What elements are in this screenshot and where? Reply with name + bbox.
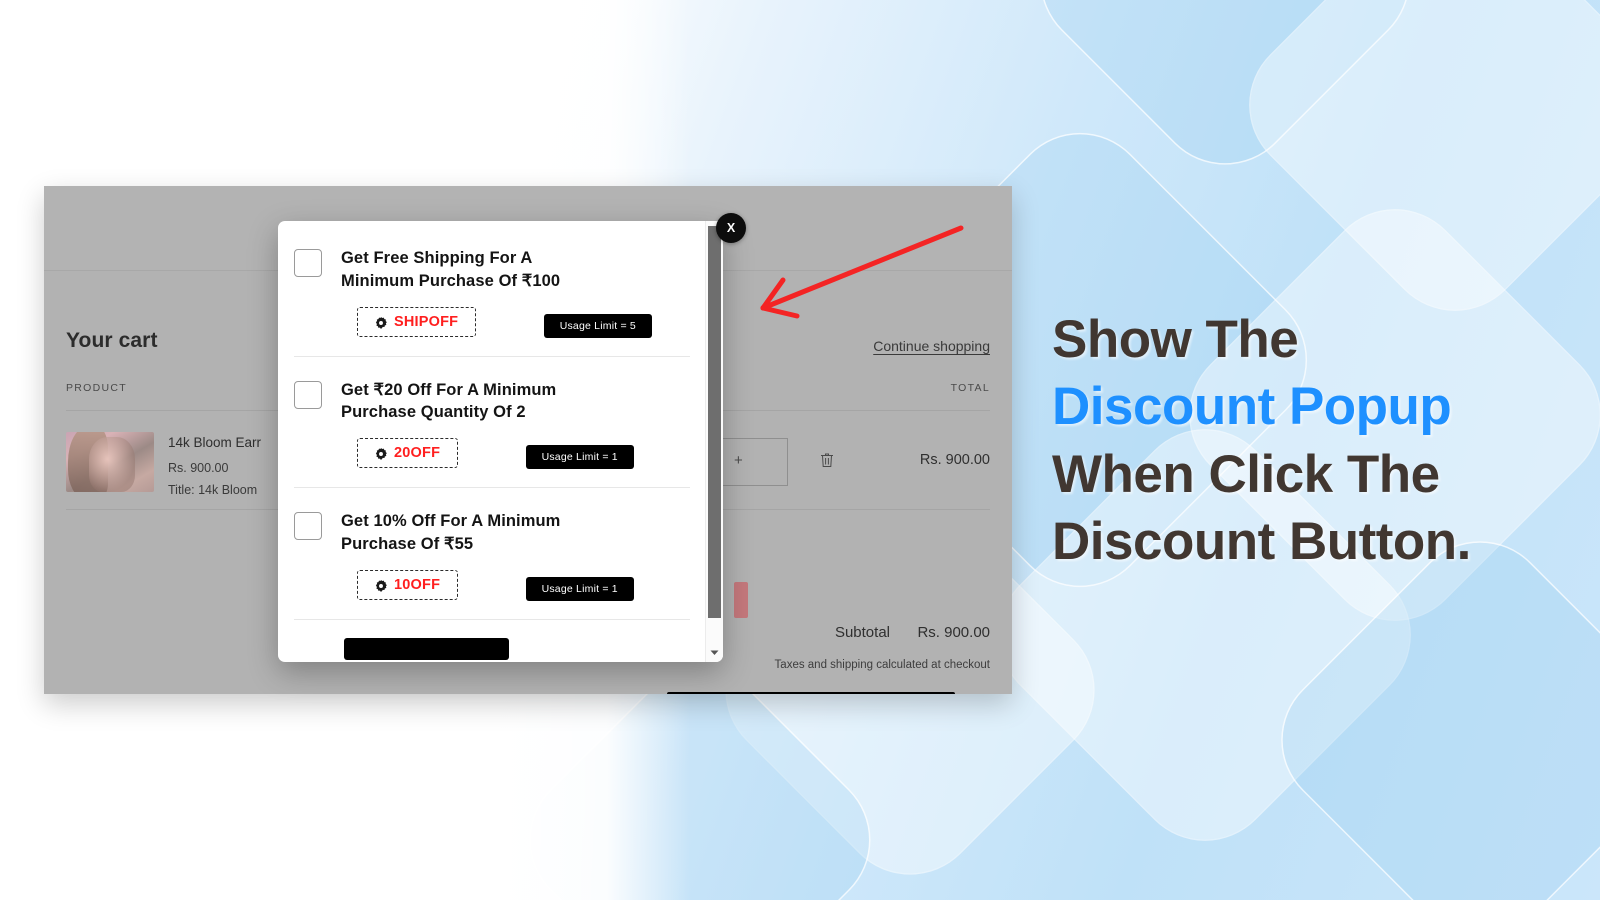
discount-title: Get ₹20 Off For A Minimum Purchase Quant… bbox=[341, 379, 599, 425]
subtotal-value: Rs. 900.00 bbox=[917, 624, 990, 641]
discount-code-chip[interactable]: SHIPOFF bbox=[357, 307, 476, 337]
annotation-arrow bbox=[735, 220, 965, 330]
discount-code-chip[interactable]: 10OFF bbox=[357, 570, 458, 600]
usage-limit-badge: Usage Limit = 5 bbox=[544, 314, 652, 338]
promo-headline: Show The Discount Popup When Click The D… bbox=[1052, 306, 1572, 575]
subtotal-label: Subtotal bbox=[835, 624, 890, 641]
line-item-total: Rs. 900.00 bbox=[920, 452, 990, 468]
quantity-increase-button[interactable]: + bbox=[734, 452, 743, 469]
discount-checkbox[interactable] bbox=[294, 381, 322, 409]
gear-icon bbox=[375, 447, 387, 459]
headline-line-3: When Click The bbox=[1052, 441, 1572, 508]
screenshot-canvas: Your cart Continue shopping PRODUCT TOTA… bbox=[0, 0, 1600, 900]
headline-line-2: Discount Popup bbox=[1052, 373, 1572, 440]
modal-scrollbar[interactable] bbox=[705, 221, 723, 662]
discount-popup: Get Free Shipping For A Minimum Purchase… bbox=[278, 221, 723, 662]
page-title: Your cart bbox=[66, 329, 158, 353]
gear-icon bbox=[375, 579, 387, 591]
discount-title: Get 10% Off For A Minimum Purchase Of ₹5… bbox=[341, 510, 599, 556]
product-price: Rs. 900.00 bbox=[168, 461, 228, 475]
scrollbar-thumb[interactable] bbox=[708, 226, 721, 618]
usage-limit-badge: Usage Limit = 1 bbox=[526, 577, 634, 601]
apply-discount-button[interactable] bbox=[344, 638, 509, 660]
column-header-total: TOTAL bbox=[951, 382, 990, 394]
discount-item: Get 10% Off For A Minimum Purchase Of ₹5… bbox=[294, 488, 690, 620]
discount-code-text: 10OFF bbox=[394, 577, 440, 593]
discount-checkbox[interactable] bbox=[294, 249, 322, 277]
discount-list: Get Free Shipping For A Minimum Purchase… bbox=[278, 221, 706, 662]
product-variant: Title: 14k Bloom bbox=[168, 483, 257, 497]
tax-shipping-note: Taxes and shipping calculated at checkou… bbox=[775, 659, 990, 671]
discount-item: Get Free Shipping For A Minimum Purchase… bbox=[294, 221, 690, 357]
discount-checkbox[interactable] bbox=[294, 512, 322, 540]
remove-item-icon[interactable] bbox=[820, 452, 834, 468]
discount-item: Get ₹20 Off For A Minimum Purchase Quant… bbox=[294, 357, 690, 489]
discount-code-chip[interactable]: 20OFF bbox=[357, 438, 458, 468]
usage-limit-badge: Usage Limit = 1 bbox=[526, 445, 634, 469]
checkout-button[interactable] bbox=[667, 692, 955, 694]
product-name[interactable]: 14k Bloom Earr bbox=[168, 435, 261, 450]
discount-code-text: SHIPOFF bbox=[394, 314, 458, 330]
scroll-down-arrow-icon[interactable] bbox=[706, 644, 723, 660]
headline-line-1: Show The bbox=[1052, 306, 1572, 373]
discount-button-highlight[interactable] bbox=[734, 582, 748, 618]
gear-icon bbox=[375, 316, 387, 328]
headline-line-4: Discount Button. bbox=[1052, 508, 1572, 575]
quantity-stepper[interactable] bbox=[714, 438, 788, 486]
column-header-product: PRODUCT bbox=[66, 382, 127, 394]
discount-code-text: 20OFF bbox=[394, 445, 440, 461]
product-thumbnail bbox=[66, 432, 154, 492]
discount-title: Get Free Shipping For A Minimum Purchase… bbox=[341, 247, 599, 293]
continue-shopping-link[interactable]: Continue shopping bbox=[873, 338, 990, 354]
